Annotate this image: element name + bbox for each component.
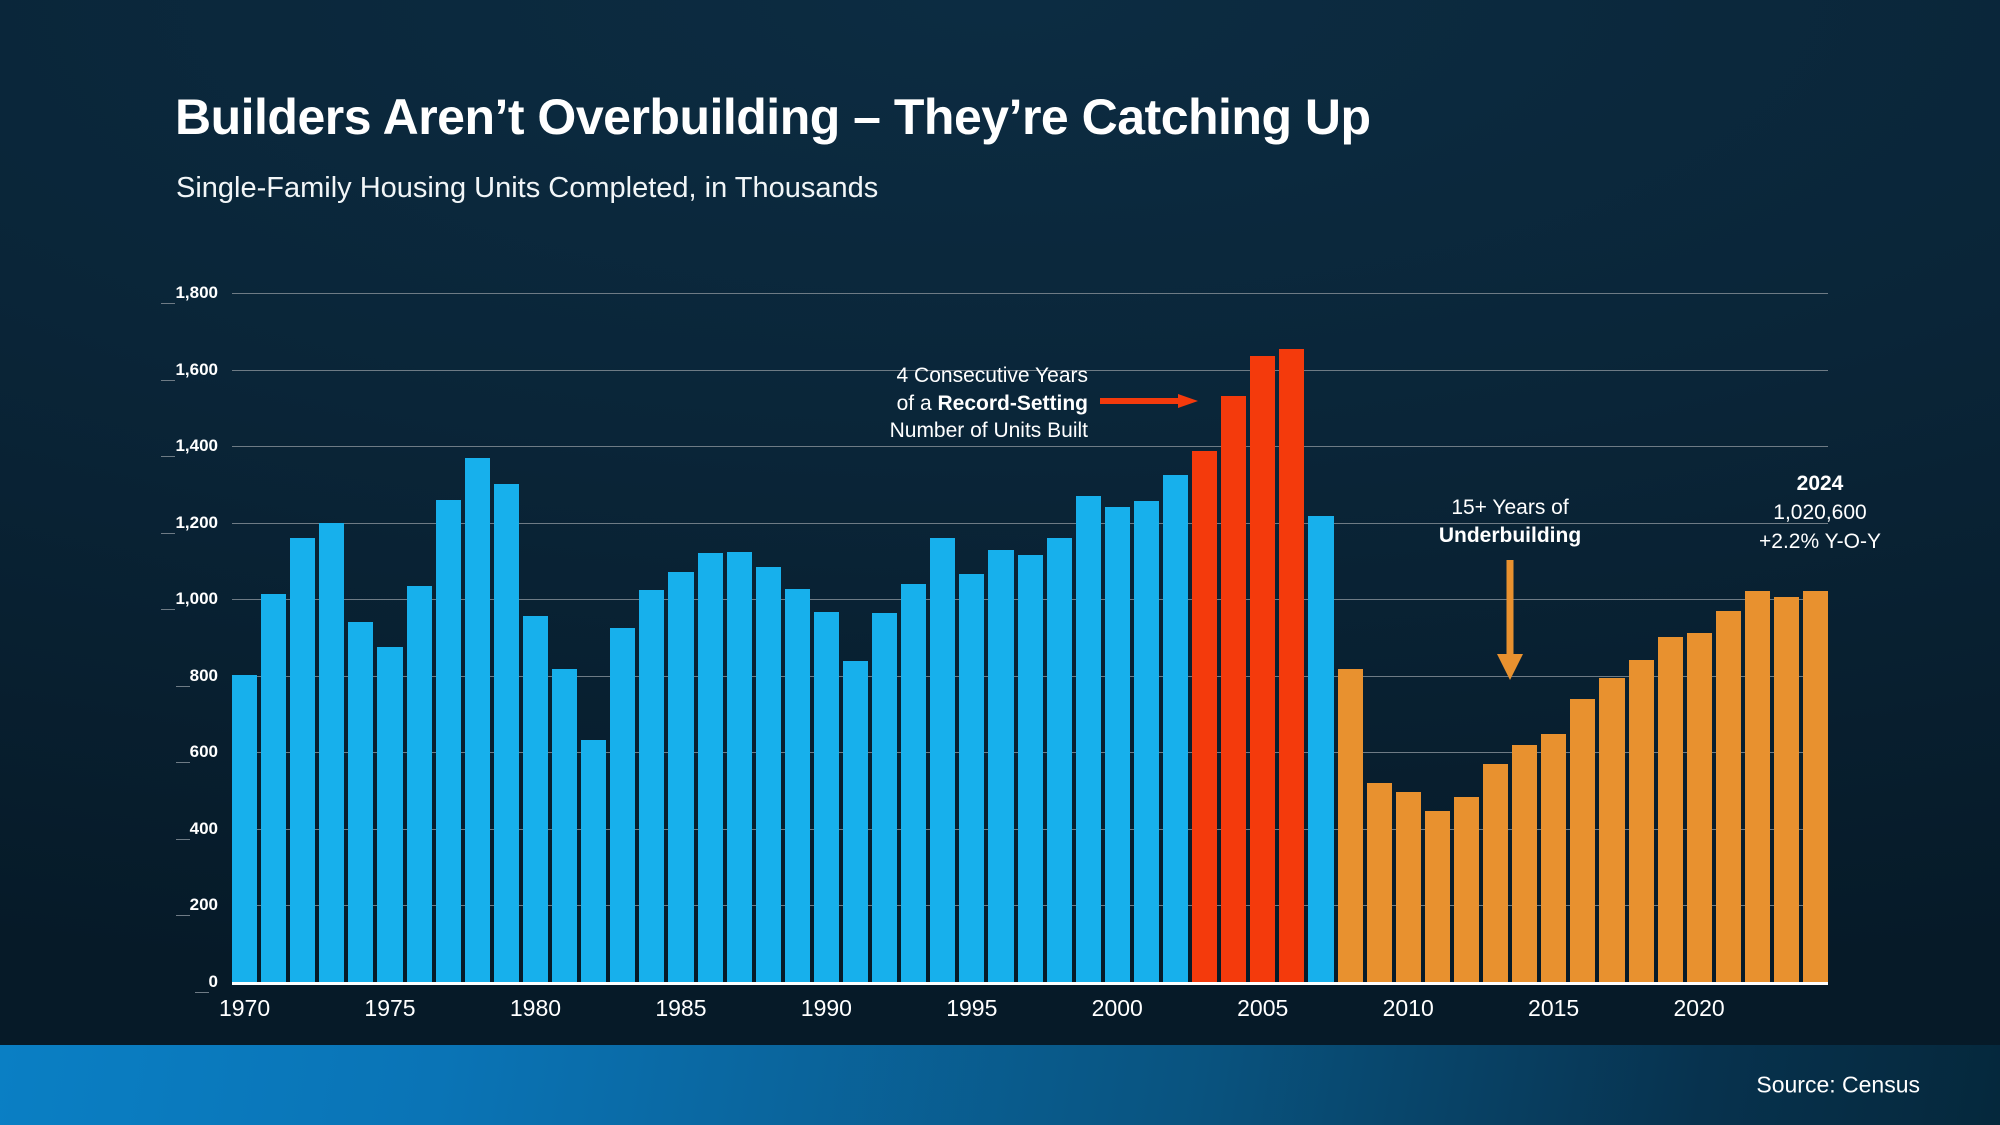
- y-axis-tick-mark: [176, 915, 190, 916]
- bar-2012: [1454, 797, 1479, 982]
- y-axis-tick-label: 200: [190, 895, 218, 915]
- x-axis-tick-label: 1970: [219, 995, 270, 1022]
- bar-1998: [1047, 538, 1072, 982]
- annotation-record-setting: 4 Consecutive Years of a Record-Setting …: [838, 362, 1088, 445]
- annotation-underbuilding-line2: Underbuilding: [1380, 522, 1640, 550]
- y-axis-tick-label: 600: [190, 742, 218, 762]
- bar-2021: [1716, 611, 1741, 982]
- y-axis-tick-label: 1,800: [175, 283, 218, 303]
- x-axis-tick-label: 2000: [1092, 995, 1143, 1022]
- bar-2002: [1163, 475, 1188, 982]
- bar-1985: [668, 572, 693, 982]
- bar-1980: [523, 616, 548, 982]
- footer-bar: Source: Census: [0, 1045, 2000, 1125]
- source-label: Source: Census: [1756, 1072, 1920, 1099]
- bar-1976: [407, 586, 432, 982]
- bar-1997: [1018, 555, 1043, 982]
- bar-2024: [1803, 591, 1828, 982]
- x-axis-baseline: [232, 982, 1828, 985]
- annotation-record-line1: 4 Consecutive Years: [838, 362, 1088, 390]
- annotation-latest-change: +2.2% Y-O-Y: [1700, 528, 1940, 557]
- bar-1975: [377, 647, 402, 982]
- bar-1991: [843, 661, 868, 982]
- bar-2014: [1512, 745, 1537, 982]
- annotation-underbuilding: 15+ Years of Underbuilding: [1380, 494, 1640, 550]
- x-axis-tick-label: 1985: [655, 995, 706, 1022]
- y-axis-tick-mark: [161, 533, 175, 534]
- bar-1989: [785, 589, 810, 982]
- bar-2010: [1396, 792, 1421, 982]
- bar-1984: [639, 590, 664, 982]
- bar-2004: [1221, 396, 1246, 982]
- arrow-right-icon: [1100, 394, 1198, 408]
- bar-2013: [1483, 764, 1508, 982]
- bar-1993: [901, 584, 926, 982]
- bar-2007: [1308, 516, 1333, 982]
- bar-2000: [1105, 507, 1130, 982]
- bar-2005: [1250, 356, 1275, 982]
- bar-1992: [872, 613, 897, 982]
- annotation-record-line2-bold: Record-Setting: [937, 392, 1088, 415]
- x-axis-tick-label: 2015: [1528, 995, 1579, 1022]
- y-axis-tick-label: 1,000: [175, 589, 218, 609]
- bar-1994: [930, 538, 955, 982]
- bar-1979: [494, 484, 519, 982]
- bar-1982: [581, 740, 606, 982]
- y-axis-tick-mark: [161, 303, 175, 304]
- annotation-record-line2: of a Record-Setting: [838, 390, 1088, 418]
- bar-2011: [1425, 811, 1450, 982]
- bar-2020: [1687, 633, 1712, 982]
- bar-2016: [1570, 699, 1595, 982]
- bar-2006: [1279, 349, 1304, 982]
- bar-1988: [756, 567, 781, 982]
- bar-1974: [348, 622, 373, 982]
- bar-1986: [698, 553, 723, 982]
- bar-2015: [1541, 734, 1566, 982]
- annotation-latest-year: 2024 1,020,600 +2.2% Y-O-Y: [1700, 470, 1940, 557]
- page-title: Builders Aren’t Overbuilding – They’re C…: [175, 88, 1371, 146]
- x-axis-tick-label: 1980: [510, 995, 561, 1022]
- y-axis-tick-mark: [161, 380, 175, 381]
- page-subtitle: Single-Family Housing Units Completed, i…: [176, 172, 878, 205]
- y-axis-tick-label: 0: [209, 972, 218, 992]
- bar-1996: [988, 550, 1013, 982]
- bar-2017: [1599, 678, 1624, 982]
- bar-1995: [959, 574, 984, 982]
- y-axis-tick-mark: [161, 609, 175, 610]
- bar-1987: [727, 552, 752, 982]
- bar-1981: [552, 669, 577, 982]
- bar-1977: [436, 500, 461, 982]
- y-axis-tick-mark: [176, 686, 190, 687]
- annotation-latest-year-label: 2024: [1700, 470, 1940, 499]
- slide-canvas: Builders Aren’t Overbuilding – They’re C…: [0, 0, 2000, 1125]
- bar-2018: [1629, 660, 1654, 982]
- bar-1999: [1076, 496, 1101, 982]
- x-axis-tick-label: 2010: [1383, 995, 1434, 1022]
- annotation-record-line3: Number of Units Built: [838, 417, 1088, 445]
- y-axis-tick-label: 1,200: [175, 513, 218, 533]
- x-axis-tick-label: 1990: [801, 995, 852, 1022]
- y-axis-tick-label: 400: [190, 819, 218, 839]
- x-axis-tick-label: 1995: [946, 995, 997, 1022]
- bar-1978: [465, 458, 490, 982]
- y-axis-tick-label: 800: [190, 666, 218, 686]
- bar-1971: [261, 594, 286, 982]
- y-axis-tick-label: 1,600: [175, 360, 218, 380]
- x-axis-tick-label: 1975: [364, 995, 415, 1022]
- x-axis-tick-label: 2005: [1237, 995, 1288, 1022]
- bar-2003: [1192, 451, 1217, 982]
- x-axis-ticks: 1970197519801985199019952000200520102015…: [232, 995, 1828, 1035]
- x-axis-tick-label: 2020: [1673, 995, 1724, 1022]
- y-axis-tick-mark: [161, 456, 175, 457]
- y-axis-tick-mark: [176, 762, 190, 763]
- annotation-underbuilding-line1: 15+ Years of: [1380, 494, 1640, 522]
- y-axis-tick-mark: [176, 839, 190, 840]
- bar-1983: [610, 628, 635, 982]
- y-axis-tick-mark: [195, 992, 209, 993]
- bar-2019: [1658, 637, 1683, 982]
- bar-2023: [1774, 597, 1799, 982]
- bar-2001: [1134, 501, 1159, 982]
- bar-2008: [1338, 669, 1363, 982]
- bar-2009: [1367, 783, 1392, 982]
- y-axis-tick-label: 1,400: [175, 436, 218, 456]
- annotation-record-line2-prefix: of a: [897, 392, 938, 415]
- bar-1990: [814, 612, 839, 982]
- bar-1970: [232, 675, 257, 982]
- annotation-latest-value: 1,020,600: [1700, 499, 1940, 528]
- bar-1972: [290, 538, 315, 982]
- bar-2022: [1745, 591, 1770, 982]
- bar-1973: [319, 523, 344, 982]
- arrow-down-icon: [1493, 560, 1527, 680]
